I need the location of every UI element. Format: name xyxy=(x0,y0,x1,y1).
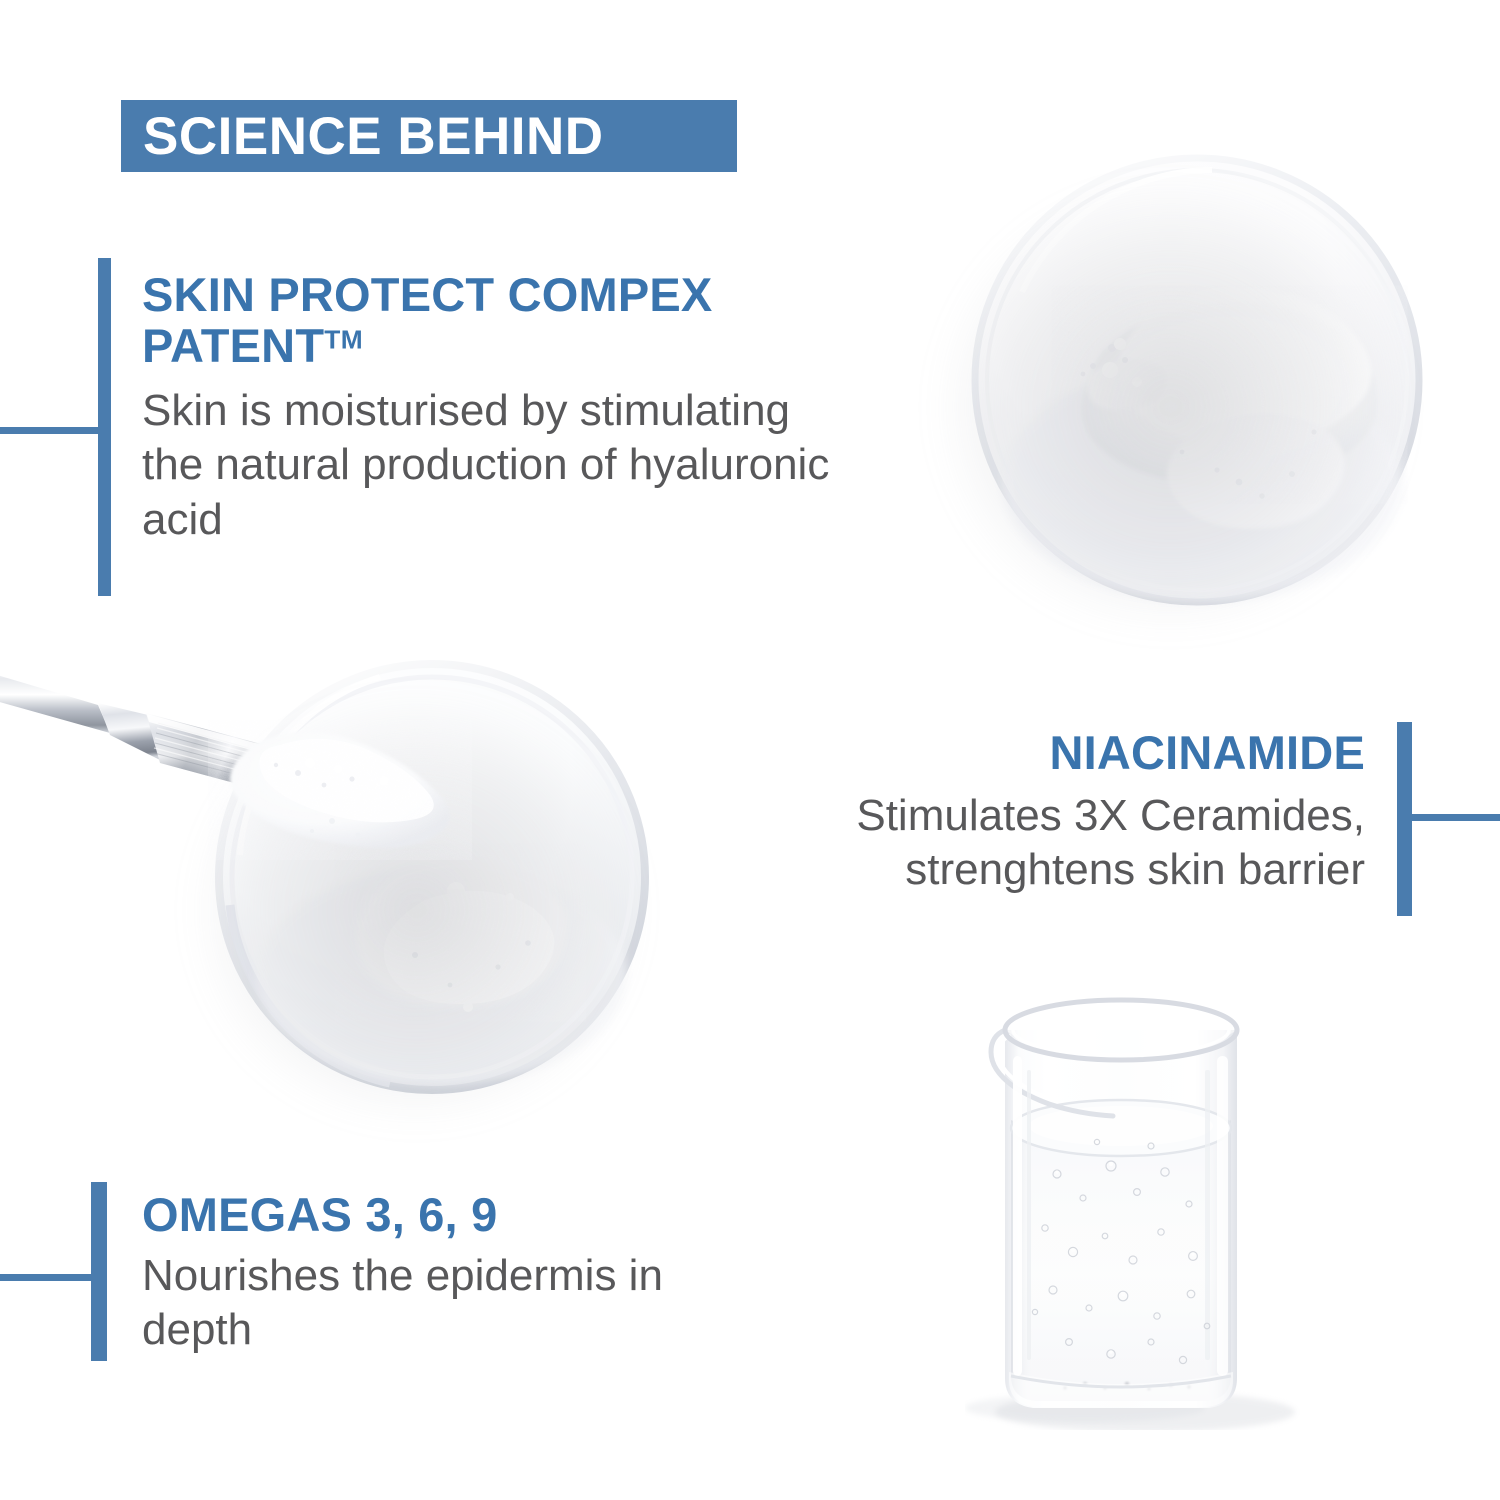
feature-omegas: OMEGAS 3, 6, 9 Nourishes the epidermis i… xyxy=(142,1190,782,1358)
beaker-gel-image xyxy=(965,960,1320,1430)
spatula-image xyxy=(0,645,580,875)
marker-line-niacinamide xyxy=(1410,814,1500,821)
poster-canvas: SCIENCE BEHIND SKIN PROTECT COMPEXPATENT… xyxy=(0,0,1500,1500)
feature-body-niacinamide: Stimulates 3X Ceramides, strenghtens ski… xyxy=(745,789,1365,898)
marker-line-skin xyxy=(0,427,100,434)
science-behind-badge: SCIENCE BEHIND xyxy=(121,100,737,172)
marker-line-omegas xyxy=(0,1274,94,1281)
feature-title-omegas: OMEGAS 3, 6, 9 xyxy=(142,1190,782,1241)
feature-skin-protect-complex: SKIN PROTECT COMPEXPATENTTM Skin is mois… xyxy=(142,270,862,547)
trademark-symbol: TM xyxy=(324,324,363,354)
marker-bar-omegas xyxy=(91,1182,107,1361)
petri-dish-powder-image xyxy=(962,152,1432,622)
feature-body-skin-protect-complex: Skin is moisturised by stimulating the n… xyxy=(142,384,862,548)
petri-dish-spatula-image xyxy=(210,655,660,1105)
feature-niacinamide: NIACINAMIDE Stimulates 3X Ceramides, str… xyxy=(745,728,1365,898)
feature-body-omegas: Nourishes the epidermis in depth xyxy=(142,1249,782,1358)
page-title: SCIENCE BEHIND xyxy=(143,110,604,163)
feature-title-niacinamide: NIACINAMIDE xyxy=(745,728,1365,779)
feature-title-skin-protect-complex: SKIN PROTECT COMPEXPATENTTM xyxy=(142,270,862,372)
